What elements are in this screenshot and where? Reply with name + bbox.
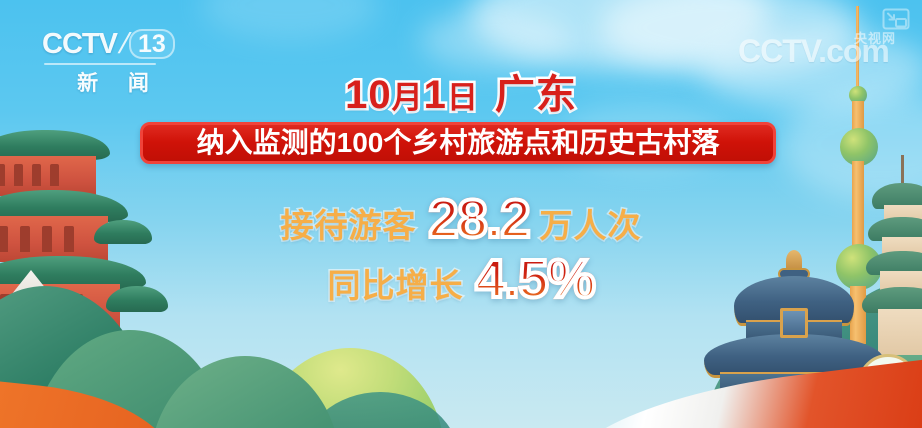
stat-value: 4.5% — [475, 252, 594, 306]
pavilion-window — [32, 164, 41, 186]
temple-center-window — [780, 308, 808, 338]
logo-row-primary: CCTV / 13 — [42, 26, 178, 62]
stat-row-visitors: 接待游客 28.2 万人次 — [0, 192, 922, 247]
picture-in-picture-icon[interactable] — [882, 8, 910, 30]
watermark-chinese: 央视网 — [854, 28, 896, 47]
logo-underline — [44, 63, 156, 65]
pagoda-spire — [901, 155, 904, 185]
cloud-shape — [470, 0, 770, 70]
stat-value: 28.2 — [428, 192, 529, 246]
headline-month-unit: 月 — [392, 80, 424, 115]
stat-suffix: 万人次 — [540, 199, 642, 247]
headline-date-location: 10月1日广东 — [0, 72, 922, 121]
headline-month-number: 10 — [345, 73, 392, 117]
logo-channel-number: 13 — [129, 29, 175, 59]
logo-cctv-text: CCTV — [42, 28, 117, 61]
cloud-shape — [200, 0, 380, 40]
headline-day-unit: 日 — [447, 80, 479, 115]
headline-day-number: 1 — [424, 73, 447, 117]
stat-label: 接待游客 — [280, 199, 416, 247]
pavilion-window — [0, 164, 5, 186]
cloud-shape — [420, 10, 570, 70]
headline-province: 广东 — [495, 73, 577, 117]
banner-text: 纳入监测的100个乡村旅游点和历史古村落 — [197, 128, 720, 158]
pavilion-window — [50, 164, 59, 186]
stat-label: 同比增长 — [327, 259, 463, 307]
red-banner: 纳入监测的100个乡村旅游点和历史古村落 — [140, 122, 776, 164]
news-graphic-stage: CCTV / 13 新 闻 CCTV.com 央视网 10月1日广东 纳入监测的… — [0, 0, 922, 428]
pavilion-window — [14, 164, 23, 186]
stat-row-growth: 同比增长 4.5% — [0, 252, 922, 307]
